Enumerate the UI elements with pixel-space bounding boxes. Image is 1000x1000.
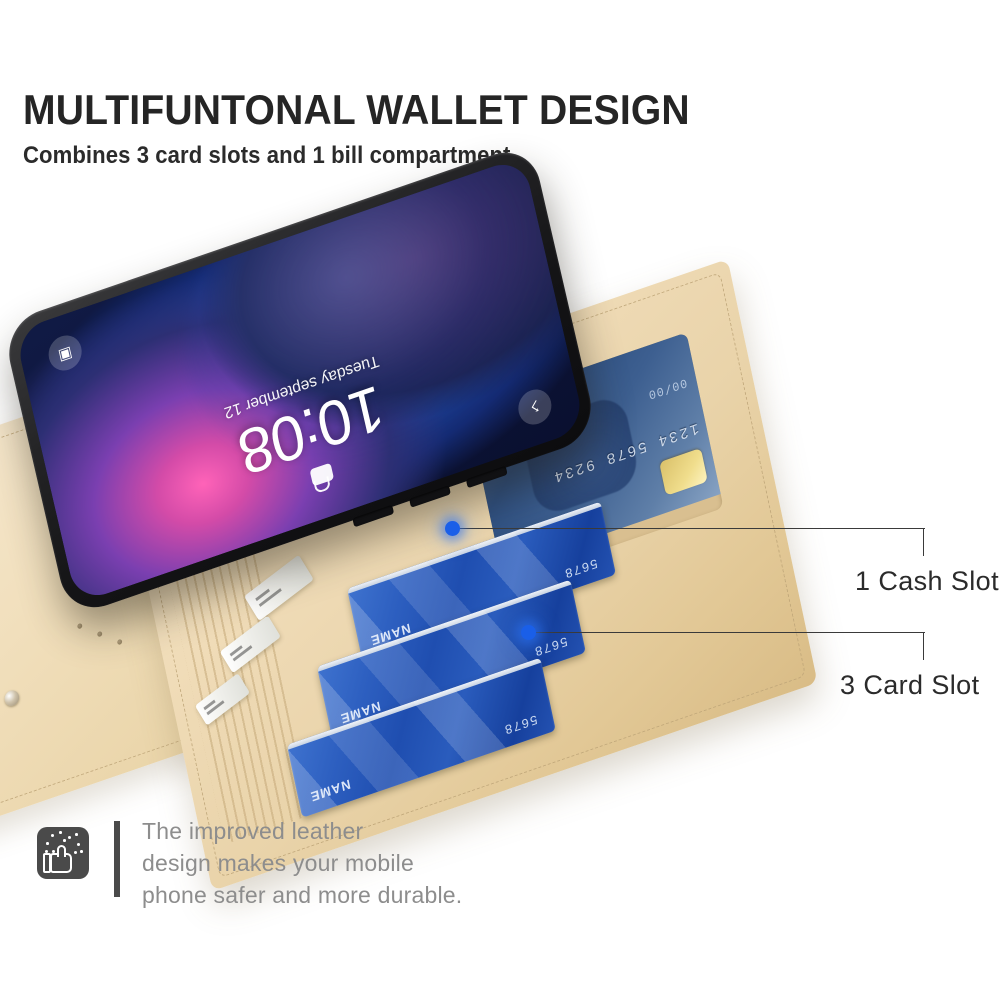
feature-text-line: The improved leather — [142, 815, 462, 847]
snap-rivet — [3, 688, 20, 708]
thumbs-up-icon — [37, 827, 89, 879]
feature-divider — [114, 821, 120, 897]
page-title: MULTIFUNTONAL WALLET DESIGN — [23, 88, 841, 132]
thumb-up — [57, 845, 66, 857]
feature-text-line: phone safer and more durable. — [142, 879, 462, 911]
product-feature-page: { "headline": { "title": "MULTIFUNTONAL … — [0, 0, 1000, 1000]
callout-leader-line-card — [923, 632, 924, 660]
perforation-hole — [77, 623, 83, 630]
lock-icon — [310, 463, 335, 487]
callout-leader-line-cash — [452, 528, 925, 529]
product-photo: 1234 5678 9234 00/00 BANK CARD NAME 5678… — [0, 210, 1000, 810]
callout-label-card: 3 Card Slot — [840, 670, 979, 701]
page-subtitle: Combines 3 card slots and 1 bill compart… — [23, 142, 833, 170]
feature-text-line: design makes your mobile — [142, 847, 462, 879]
feature-callout: The improved leather design makes your m… — [37, 815, 462, 911]
card-chip — [659, 448, 708, 496]
callout-leader-line-card — [528, 632, 925, 633]
callout-marker-card — [521, 625, 536, 640]
callout-leader-line-cash — [923, 528, 924, 556]
perforation-hole — [97, 631, 103, 638]
callout-label-cash: 1 Cash Slot — [855, 566, 999, 597]
card-expiry: 00/00 — [646, 375, 688, 402]
feature-text: The improved leather design makes your m… — [142, 815, 462, 911]
perforation-hole — [117, 639, 123, 646]
callout-marker-cash — [445, 521, 460, 536]
headline-block: MULTIFUNTONAL WALLET DESIGN Combines 3 c… — [23, 88, 903, 170]
